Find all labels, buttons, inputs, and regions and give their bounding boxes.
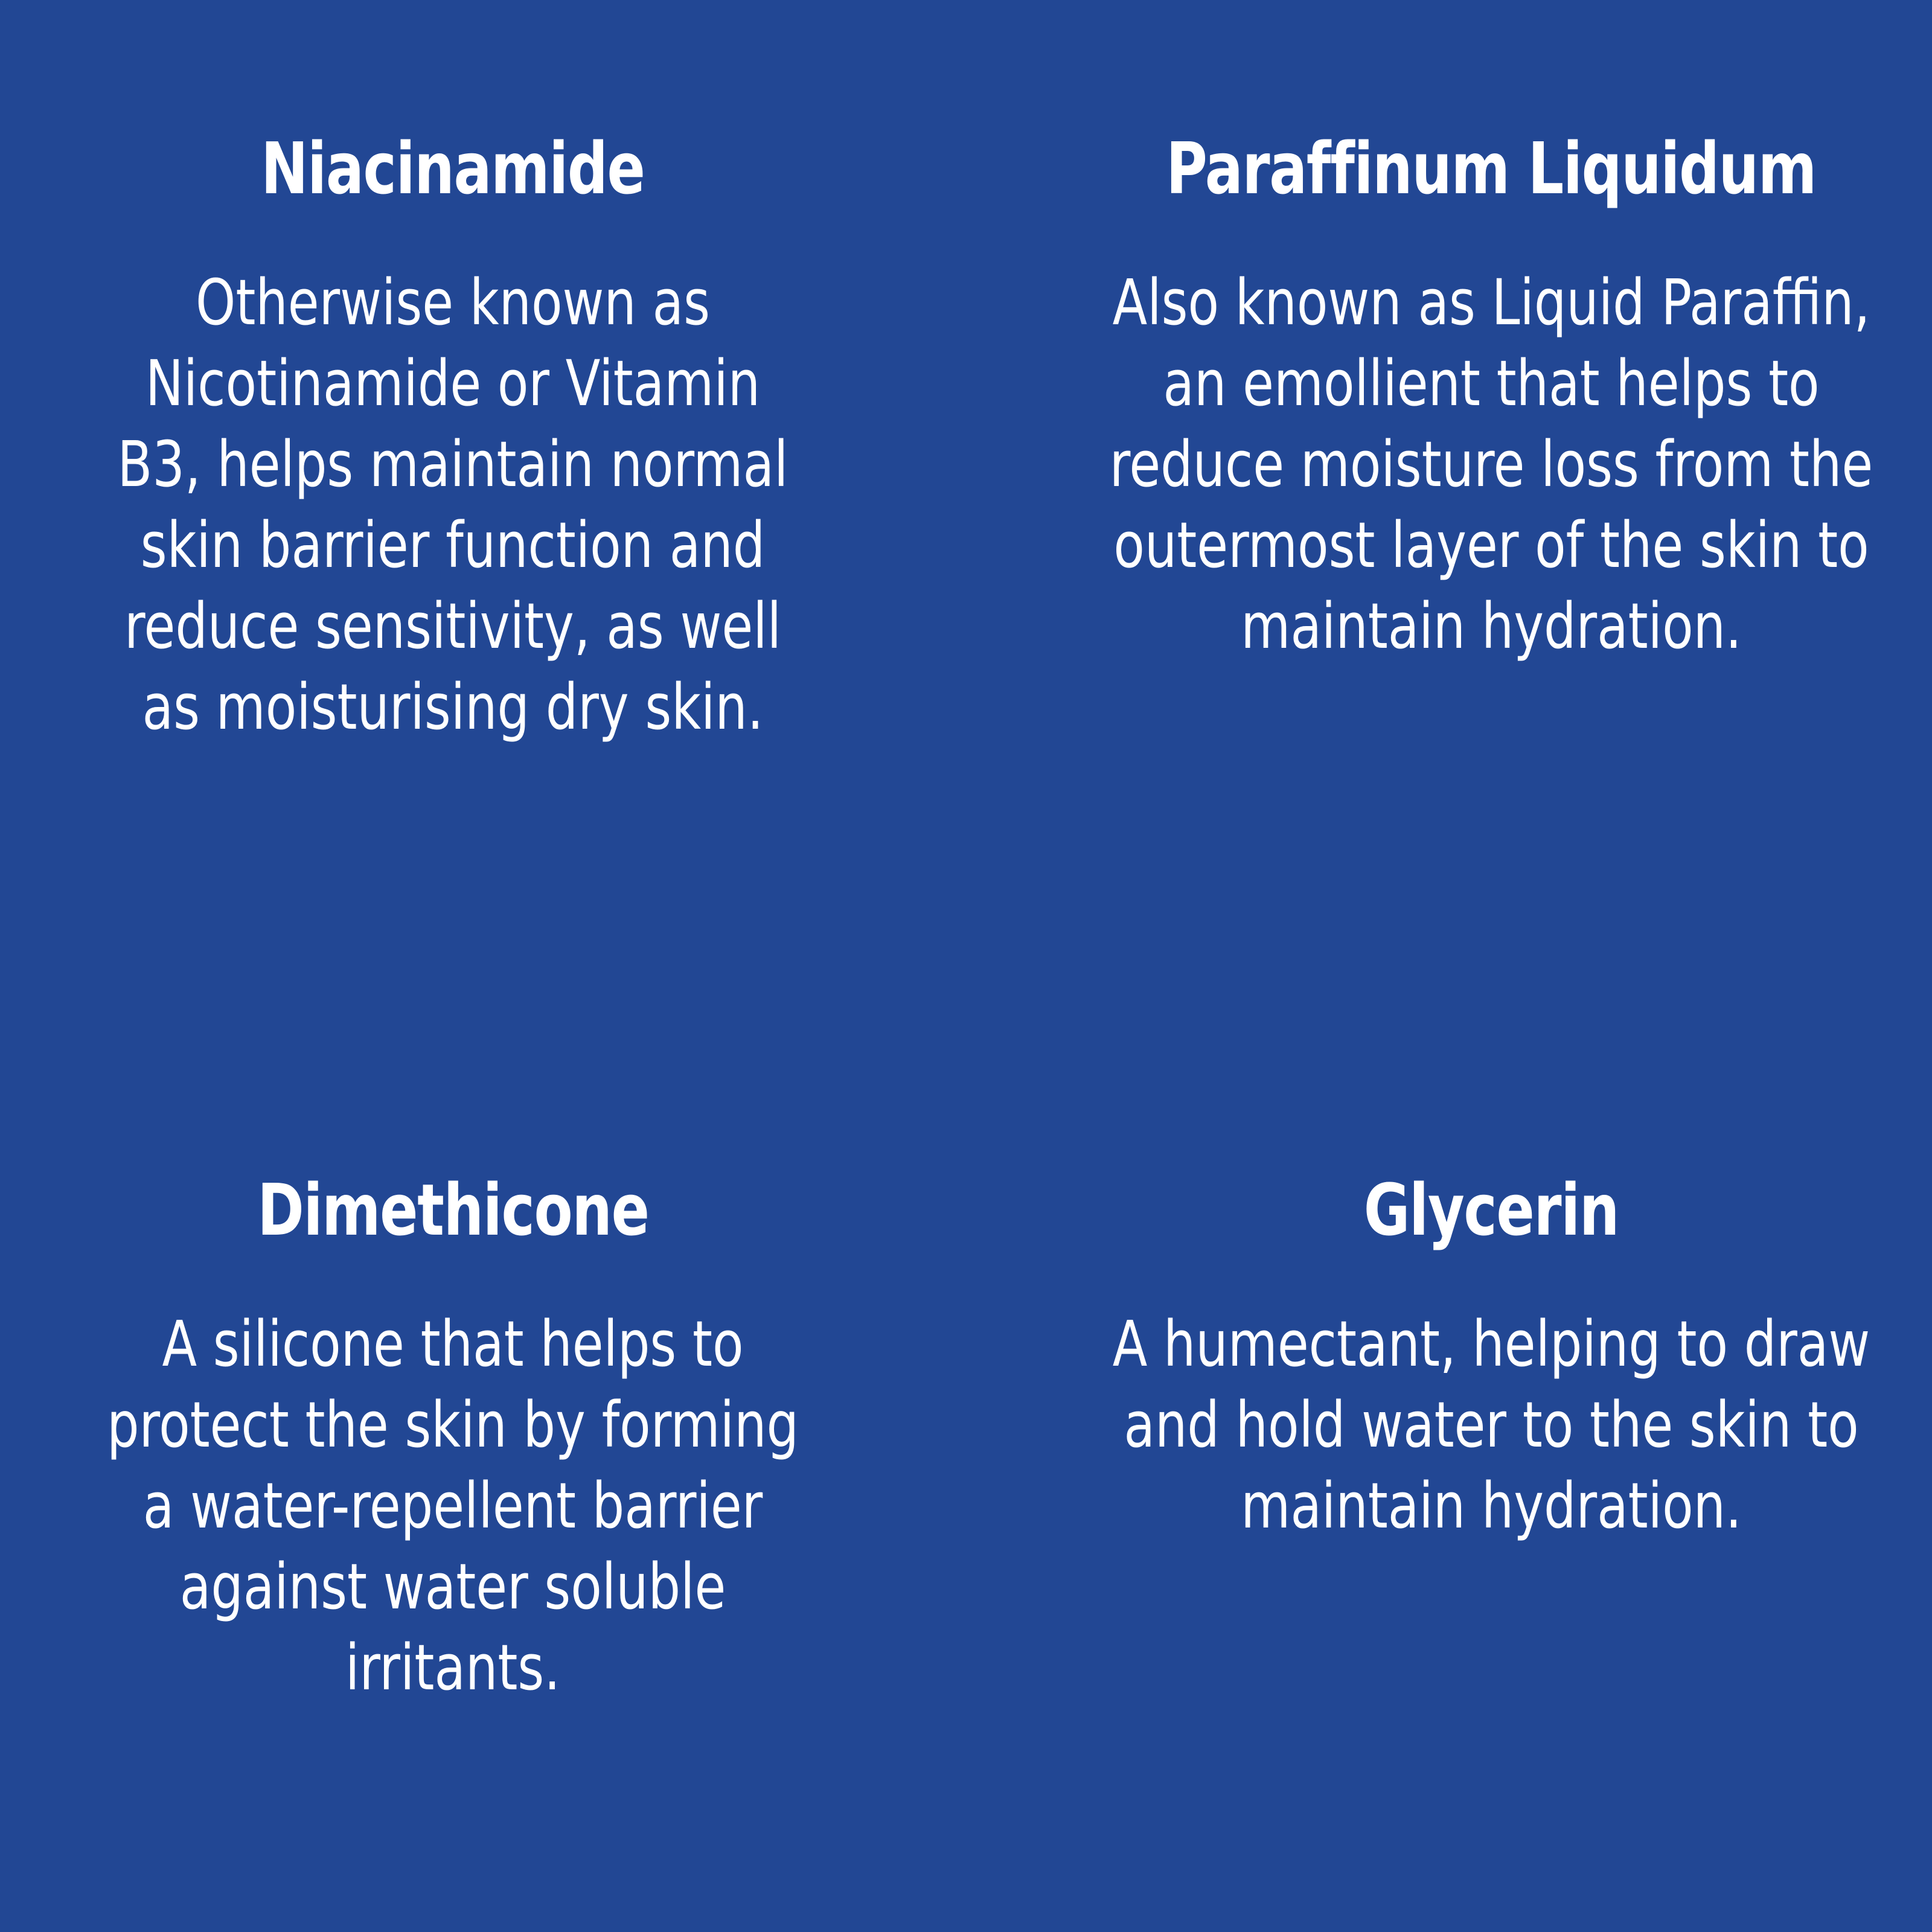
ingredient-heading-niacinamide: Niacinamide (261, 133, 644, 204)
ingredient-heading-dimethicone: Dimethicone (257, 1174, 648, 1246)
ingredient-heading-glycerin: Glycerin (1364, 1174, 1619, 1246)
ingredient-description-paraffinum-liquidum: Also known as Liquid Paraffin, an emolli… (1105, 262, 1877, 667)
ingredient-card-glycerin: Glycerin A humectant, helping to draw an… (966, 1023, 1932, 1932)
ingredient-card-dimethicone: Dimethicone A silicone that helps to pro… (0, 1023, 966, 1932)
ingredient-card-paraffinum-liquidum: Paraffinum Liquidum Also known as Liquid… (966, 115, 1932, 1023)
ingredient-heading-paraffinum-liquidum: Paraffinum Liquidum (1166, 133, 1817, 204)
ingredient-description-dimethicone: A silicone that helps to protect the ski… (97, 1303, 809, 1708)
ingredient-description-glycerin: A humectant, helping to draw and hold wa… (1105, 1303, 1877, 1546)
ingredient-grid: Niacinamide Otherwise known as Nicotinam… (0, 0, 1932, 1932)
ingredient-card-niacinamide: Niacinamide Otherwise known as Nicotinam… (0, 115, 966, 1023)
ingredient-description-niacinamide: Otherwise known as Nicotinamide or Vitam… (97, 262, 809, 747)
